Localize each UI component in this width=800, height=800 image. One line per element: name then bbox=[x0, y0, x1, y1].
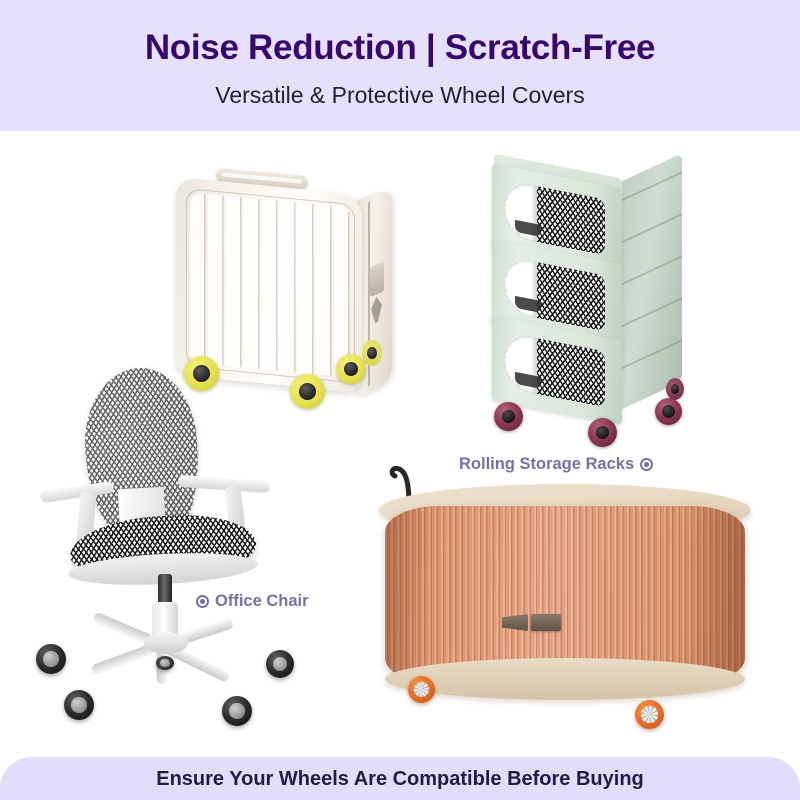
suitcase-zipper-pull bbox=[371, 294, 382, 324]
rack-wheel-cover bbox=[588, 418, 617, 447]
cabinet-right-shading bbox=[685, 506, 745, 684]
footer-banner: Ensure Your Wheels Are Compatible Before… bbox=[0, 757, 800, 800]
chair-caster-wheel bbox=[266, 650, 294, 678]
radio-dot-icon bbox=[196, 595, 209, 608]
cabinet-left-shading bbox=[385, 506, 429, 684]
rack-wheel-cover bbox=[666, 378, 684, 400]
chair-caster-wheel bbox=[36, 644, 66, 674]
suitcase-lock bbox=[370, 262, 384, 298]
chair-caster-wheel bbox=[222, 696, 252, 726]
cabinet-wheel-cover bbox=[408, 676, 435, 703]
product-rolling-storage-rack bbox=[492, 170, 692, 430]
label-rolling-storage-racks: Rolling Storage Racks bbox=[459, 455, 653, 474]
chair-base-hub bbox=[144, 632, 188, 654]
suitcase-ribbed-panel bbox=[190, 192, 352, 378]
radio-dot-icon bbox=[640, 458, 653, 471]
cabinet-base bbox=[385, 658, 745, 700]
suitcase-wheel-cover bbox=[362, 340, 382, 366]
product-storage-cabinet bbox=[375, 462, 760, 730]
page-subtitle: Versatile & Protective Wheel Covers bbox=[0, 82, 800, 109]
label-office-chair-text: Office Chair bbox=[215, 592, 309, 611]
label-office-chair: Office Chair bbox=[196, 592, 309, 611]
product-marketing-image: Noise Reduction | Scratch-Free Versatile… bbox=[0, 0, 800, 800]
chair-caster-wheel bbox=[156, 656, 174, 670]
suitcase-wheel-cover bbox=[336, 354, 366, 384]
page-title: Noise Reduction | Scratch-Free bbox=[0, 28, 800, 68]
cabinet-wheel-cover bbox=[635, 700, 664, 729]
label-rolling-storage-racks-text: Rolling Storage Racks bbox=[459, 455, 634, 474]
chair-caster-wheel bbox=[64, 690, 94, 720]
cabinet-handle-right bbox=[531, 614, 561, 631]
rack-wheel-cover bbox=[494, 402, 523, 431]
header-banner: Noise Reduction | Scratch-Free Versatile… bbox=[0, 0, 800, 131]
footer-notice-text: Ensure Your Wheels Are Compatible Before… bbox=[0, 768, 800, 791]
rack-wheel-cover bbox=[655, 398, 682, 425]
product-office-chair bbox=[28, 368, 300, 730]
